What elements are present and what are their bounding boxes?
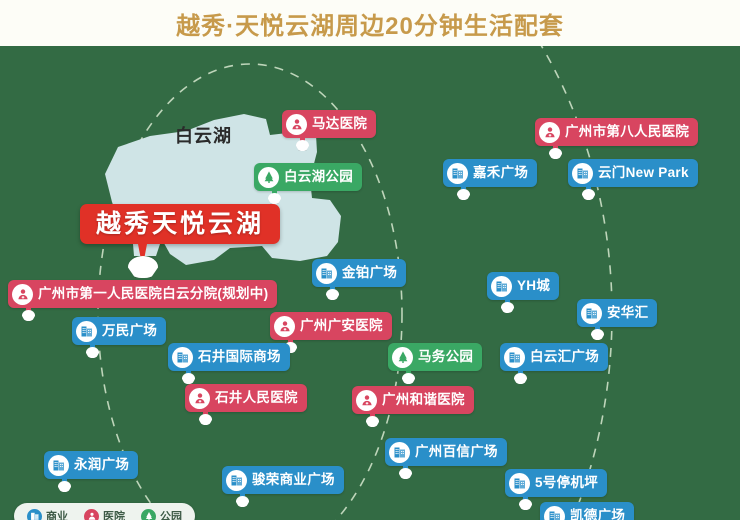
lake-name-label: 白云湖 xyxy=(175,122,232,148)
poi-bubble: 广州和谐医院 xyxy=(352,386,474,414)
poi-bubble: 广州市第八人民医院 xyxy=(535,118,698,146)
poi-pin[interactable]: 广州市第一人民医院白云分院(规划中) xyxy=(8,280,277,308)
poi-bubble: 金铂广场 xyxy=(312,259,406,287)
legend-item-commerce[interactable]: 商业 xyxy=(27,508,68,520)
poi-map-marker xyxy=(549,145,562,158)
legend-label: 商业 xyxy=(46,508,68,520)
building-icon xyxy=(509,473,530,494)
poi-pin[interactable]: 5号停机坪 xyxy=(505,469,607,497)
poi-bubble: 骏荣商业广场 xyxy=(222,466,344,494)
poi-bubble: 广州百信广场 xyxy=(385,438,507,466)
poi-map-marker xyxy=(457,186,470,199)
poi-label: YH城 xyxy=(517,272,550,300)
poi-map-marker xyxy=(402,370,415,383)
building-icon xyxy=(504,347,525,368)
poi-pin[interactable]: 嘉禾广场 xyxy=(443,159,537,187)
poi-pin[interactable]: 广州百信广场 xyxy=(385,438,507,466)
poi-bubble: 永润广场 xyxy=(44,451,138,479)
poi-bubble: 广州广安医院 xyxy=(270,312,392,340)
poi-pin[interactable]: 广州和谐医院 xyxy=(352,386,474,414)
tree-icon xyxy=(258,167,279,188)
doctor-icon xyxy=(189,388,210,409)
legend-label: 公园 xyxy=(160,508,182,520)
poi-map-marker xyxy=(591,326,604,339)
building-icon xyxy=(581,303,602,324)
poi-label: 凯德广场 xyxy=(570,502,625,520)
project-map-marker xyxy=(128,244,158,276)
poi-map-marker xyxy=(22,307,35,320)
tree-icon xyxy=(392,347,413,368)
poi-bubble: 石井国际商场 xyxy=(168,343,290,371)
poi-map-marker xyxy=(326,286,339,299)
legend-label: 医院 xyxy=(103,508,125,520)
poi-bubble: 马达医院 xyxy=(282,110,376,138)
poi-label: 马务公园 xyxy=(418,343,473,371)
poi-label: 嘉禾广场 xyxy=(473,159,528,187)
building-icon xyxy=(491,276,512,297)
poi-pin[interactable]: 永润广场 xyxy=(44,451,138,479)
project-bubble: 越秀天悦云湖 xyxy=(80,204,280,244)
poi-pin[interactable]: 马达医院 xyxy=(282,110,376,138)
legend-item-hospital[interactable]: 医院 xyxy=(84,508,125,520)
poi-label: 白云湖公园 xyxy=(284,163,353,191)
poi-pin[interactable]: 凯德广场 xyxy=(540,502,634,520)
tree-icon xyxy=(141,509,156,520)
poi-bubble: 石井人民医院 xyxy=(185,384,307,412)
poi-pin[interactable]: 广州市第八人民医院 xyxy=(535,118,698,146)
poi-label: 骏荣商业广场 xyxy=(252,466,335,494)
poi-label: 广州和谐医院 xyxy=(382,386,465,414)
poi-map-marker xyxy=(182,370,195,383)
poi-label: 万民广场 xyxy=(102,317,157,345)
project-highlight-pin[interactable]: 越秀天悦云湖 xyxy=(80,204,280,244)
poi-pin[interactable]: 广州广安医院 xyxy=(270,312,392,340)
poi-pin[interactable]: 白云湖公园 xyxy=(254,163,362,191)
poi-map-marker xyxy=(366,413,379,426)
building-icon xyxy=(572,163,593,184)
poi-bubble: 马务公园 xyxy=(388,343,482,371)
poi-pin[interactable]: 石井国际商场 xyxy=(168,343,290,371)
poi-bubble: 凯德广场 xyxy=(540,502,634,520)
poi-pin[interactable]: 石井人民医院 xyxy=(185,384,307,412)
building-icon xyxy=(544,506,565,520)
map-legend: 商业医院公园 xyxy=(14,503,195,520)
poi-label: 金铂广场 xyxy=(342,259,397,287)
poi-pin[interactable]: 白云汇广场 xyxy=(500,343,608,371)
poi-pin[interactable]: YH城 xyxy=(487,272,559,300)
doctor-icon xyxy=(356,390,377,411)
legend-item-park[interactable]: 公园 xyxy=(141,508,182,520)
poi-bubble: 安华汇 xyxy=(577,299,657,327)
building-icon xyxy=(226,470,247,491)
header-bar: 越秀·天悦云湖周边20分钟生活配套 xyxy=(0,0,740,46)
doctor-icon xyxy=(12,284,33,305)
poi-map-infographic: 越秀·天悦云湖周边20分钟生活配套 白云湖 马达医院广州市第八人民医院白云湖公园… xyxy=(0,0,740,520)
poi-bubble: 广州市第一人民医院白云分院(规划中) xyxy=(8,280,277,308)
building-icon xyxy=(172,347,193,368)
poi-map-marker xyxy=(296,137,309,150)
doctor-icon xyxy=(84,509,99,520)
poi-map-marker xyxy=(501,299,514,312)
building-icon xyxy=(389,442,410,463)
poi-map-marker xyxy=(514,370,527,383)
poi-label: 广州市第一人民医院白云分院(规划中) xyxy=(38,280,268,308)
building-icon xyxy=(447,163,468,184)
poi-bubble: 白云湖公园 xyxy=(254,163,362,191)
poi-label: 广州百信广场 xyxy=(415,438,498,466)
poi-map-marker xyxy=(268,190,281,203)
poi-bubble: 白云汇广场 xyxy=(500,343,608,371)
page-title: 越秀·天悦云湖周边20分钟生活配套 xyxy=(176,6,564,41)
poi-pin[interactable]: 马务公园 xyxy=(388,343,482,371)
poi-bubble: 万民广场 xyxy=(72,317,166,345)
poi-label: 安华汇 xyxy=(607,299,648,327)
building-icon xyxy=(76,321,97,342)
poi-map-marker xyxy=(519,496,532,509)
poi-bubble: 云门New Park xyxy=(568,159,698,187)
poi-bubble: YH城 xyxy=(487,272,559,300)
doctor-icon xyxy=(539,122,560,143)
poi-pin[interactable]: 云门New Park xyxy=(568,159,698,187)
poi-pin[interactable]: 骏荣商业广场 xyxy=(222,466,344,494)
poi-map-marker xyxy=(399,465,412,478)
poi-label: 白云汇广场 xyxy=(530,343,599,371)
poi-label: 永润广场 xyxy=(74,451,129,479)
poi-label: 马达医院 xyxy=(312,110,367,138)
poi-map-marker xyxy=(236,493,249,506)
poi-label: 云门New Park xyxy=(598,159,689,187)
building-icon xyxy=(48,455,69,476)
poi-pin[interactable]: 万民广场 xyxy=(72,317,166,345)
poi-map-marker xyxy=(582,186,595,199)
poi-map-marker xyxy=(86,344,99,357)
poi-label: 广州广安医院 xyxy=(300,312,383,340)
poi-map-marker xyxy=(58,478,71,491)
doctor-icon xyxy=(286,114,307,135)
poi-bubble: 5号停机坪 xyxy=(505,469,607,497)
poi-label: 5号停机坪 xyxy=(535,469,598,497)
project-name: 越秀天悦云湖 xyxy=(96,210,264,238)
poi-label: 石井人民医院 xyxy=(215,384,298,412)
poi-pin[interactable]: 安华汇 xyxy=(577,299,657,327)
building-icon xyxy=(316,263,337,284)
doctor-icon xyxy=(274,316,295,337)
poi-map-marker xyxy=(199,411,212,424)
poi-bubble: 嘉禾广场 xyxy=(443,159,537,187)
poi-label: 石井国际商场 xyxy=(198,343,281,371)
poi-pin[interactable]: 金铂广场 xyxy=(312,259,406,287)
poi-label: 广州市第八人民医院 xyxy=(565,118,689,146)
building-icon xyxy=(27,509,42,520)
